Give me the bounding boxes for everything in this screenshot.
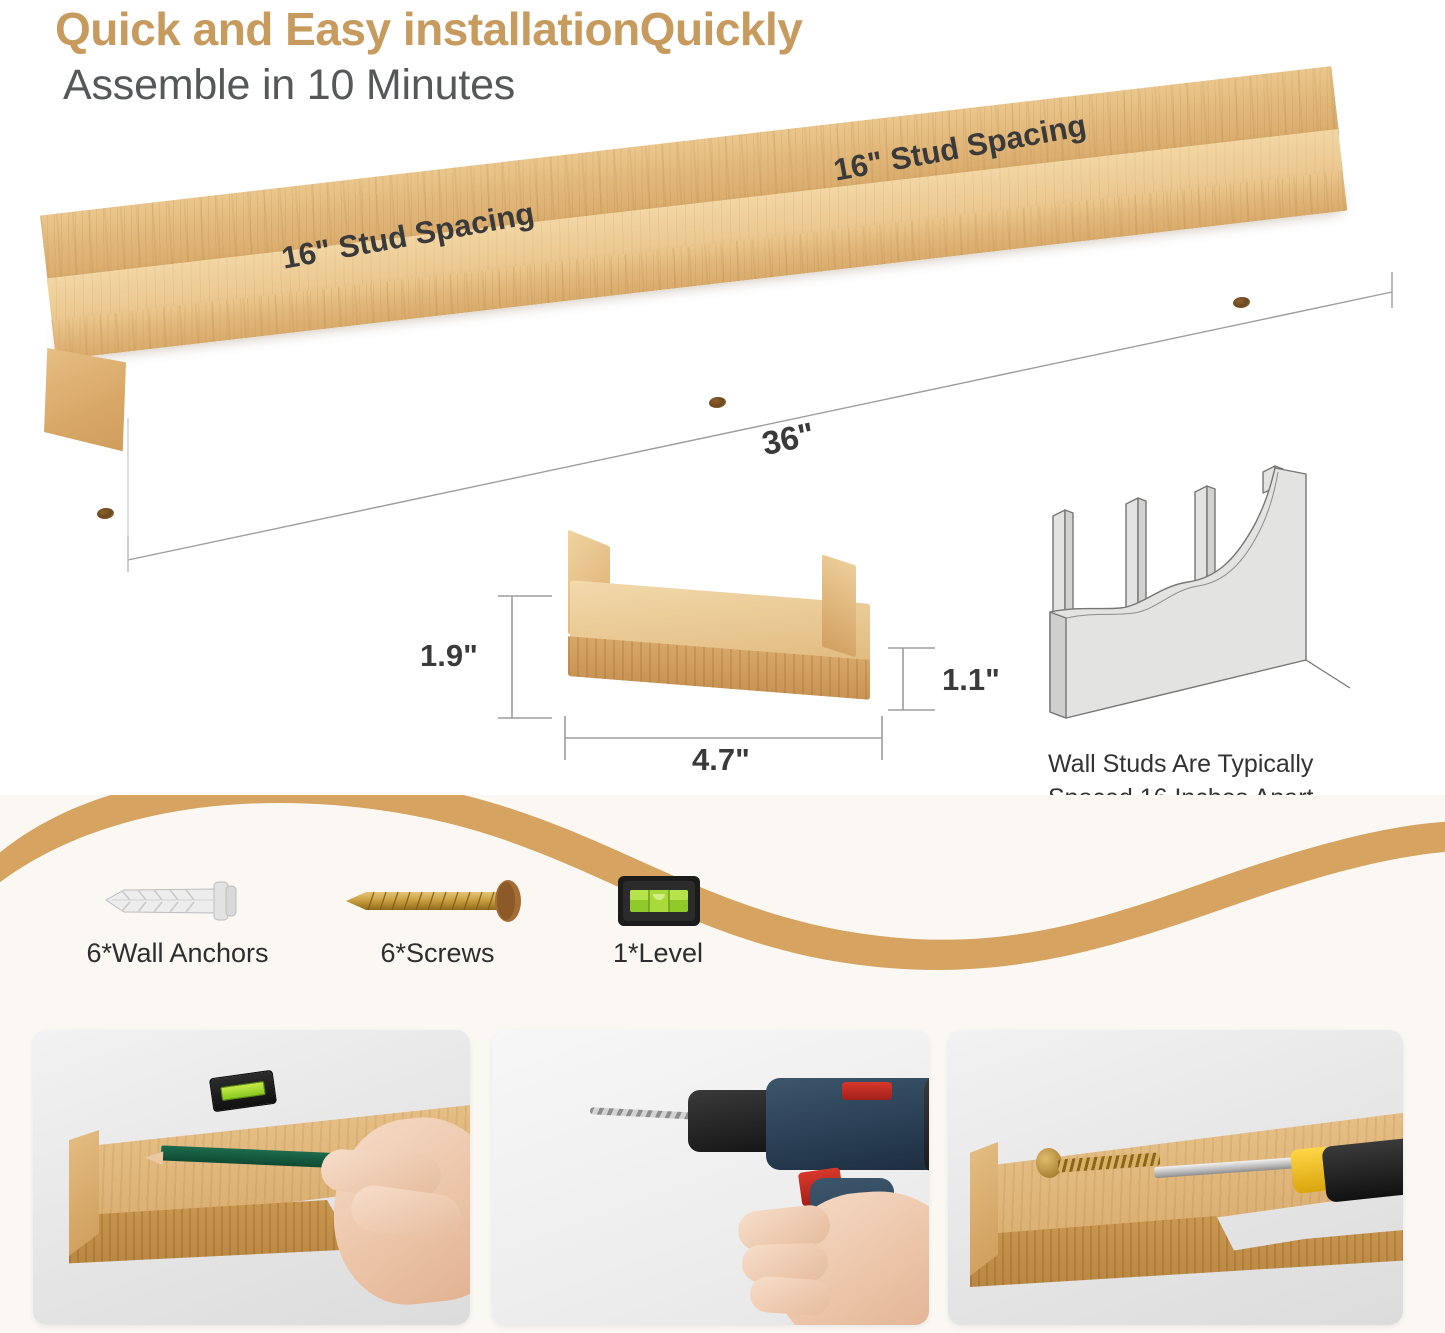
install-step-photo-drill [492, 1030, 929, 1325]
accessory-wall-anchors: 6*Wall Anchors [55, 870, 300, 969]
wall-anchors-label: 6*Wall Anchors [55, 938, 300, 969]
page-title: Quick and Easy installationQuickly [55, 2, 802, 56]
install-step-photo-screw [948, 1030, 1403, 1325]
accessories-band: 6*Wall Anchors 6*Screws [0, 795, 1445, 1010]
profile-front-lip [822, 554, 856, 657]
shelf-profile-render [550, 530, 880, 720]
drill-direction-switch [842, 1082, 892, 1100]
level-vial [221, 1081, 266, 1101]
screwdriver-handle [1321, 1137, 1403, 1203]
drill-motor-housing [924, 1076, 929, 1174]
wall-studs-caption-line-1: Wall Studs Are Typically [1048, 748, 1408, 782]
pencil-tip [145, 1151, 164, 1166]
drill-chuck [688, 1090, 776, 1152]
depth-dimension-label: 4.7" [692, 742, 750, 778]
headline-block: Quick and Easy installationQuickly Assem… [55, 2, 802, 111]
bubble-level-icon [588, 870, 728, 932]
page-subtitle: Assemble in 10 Minutes [63, 60, 802, 111]
wall-anchor-icon [55, 870, 300, 932]
cross-section-diagram: 1.9" 1.1" 4.7" [430, 520, 950, 780]
level-label: 1*Level [588, 938, 728, 969]
top-section: Quick and Easy installationQuickly Assem… [0, 0, 1445, 800]
accessory-level: 1*Level [588, 870, 728, 969]
installation-photo-strip [0, 1005, 1445, 1333]
accessory-screws: 6*Screws [330, 870, 545, 969]
height-dimension-label: 1.9" [420, 638, 478, 674]
shelf-board-end-cap [970, 1142, 998, 1276]
wall-studs-svg [1020, 460, 1370, 750]
lip-height-dimension-label: 1.1" [942, 662, 1000, 698]
install-step-photo-mark [33, 1030, 470, 1325]
screw-icon [330, 870, 545, 932]
wall-studs-illustration [1020, 460, 1370, 750]
screws-label: 6*Screws [330, 938, 545, 969]
finger [749, 1275, 831, 1316]
